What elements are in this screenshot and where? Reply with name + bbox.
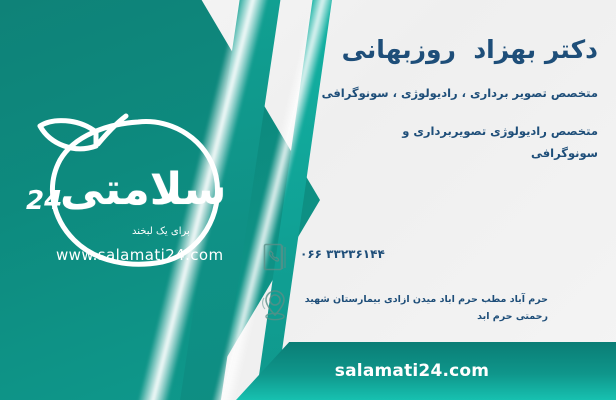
clinic-address: حرم آباد مطب حرم اباد میدن ازادی بیمارست…: [300, 288, 548, 325]
logo-wordmark: سلامتی: [60, 168, 226, 212]
footer-bar: salamati24.com: [236, 342, 616, 400]
specialty-secondary: متخصص رادیولوژی تصویربرداری و سونوگرافی: [383, 121, 598, 165]
contact-list: ۳۳۲۳۶۱۴۴ ۰۶۶ حرم آباد مطب حرم اباد میدن …: [260, 240, 606, 339]
doctor-name: دکتر بهزاد روزبهانی: [260, 34, 598, 65]
logo-tagline: برای یک لبخند: [132, 226, 190, 237]
contact-row-address[interactable]: حرم آباد مطب حرم اباد میدن ازادی بیمارست…: [260, 288, 606, 325]
specialty-primary: متخصص تصویر برداری ، رادیولوژی ، سونوگرا…: [260, 83, 598, 105]
doctor-info-block: دکتر بهزاد روزبهانی متخصص تصویر برداری ،…: [260, 0, 616, 181]
footer-website-url[interactable]: salamati24.com: [335, 361, 517, 381]
phone-number: ۳۳۲۳۶۱۴۴ ۰۶۶: [300, 240, 385, 264]
logo-website-url: www.salamati24.com: [56, 246, 224, 264]
business-card: سلامتی 24 برای یک لبخند www.salamati24.c…: [0, 0, 616, 400]
contact-row-phone[interactable]: ۳۳۲۳۶۱۴۴ ۰۶۶: [260, 240, 606, 274]
logo-24-badge: 24: [26, 186, 62, 216]
phone-book-icon: [260, 240, 290, 274]
map-pin-icon: [260, 288, 290, 322]
